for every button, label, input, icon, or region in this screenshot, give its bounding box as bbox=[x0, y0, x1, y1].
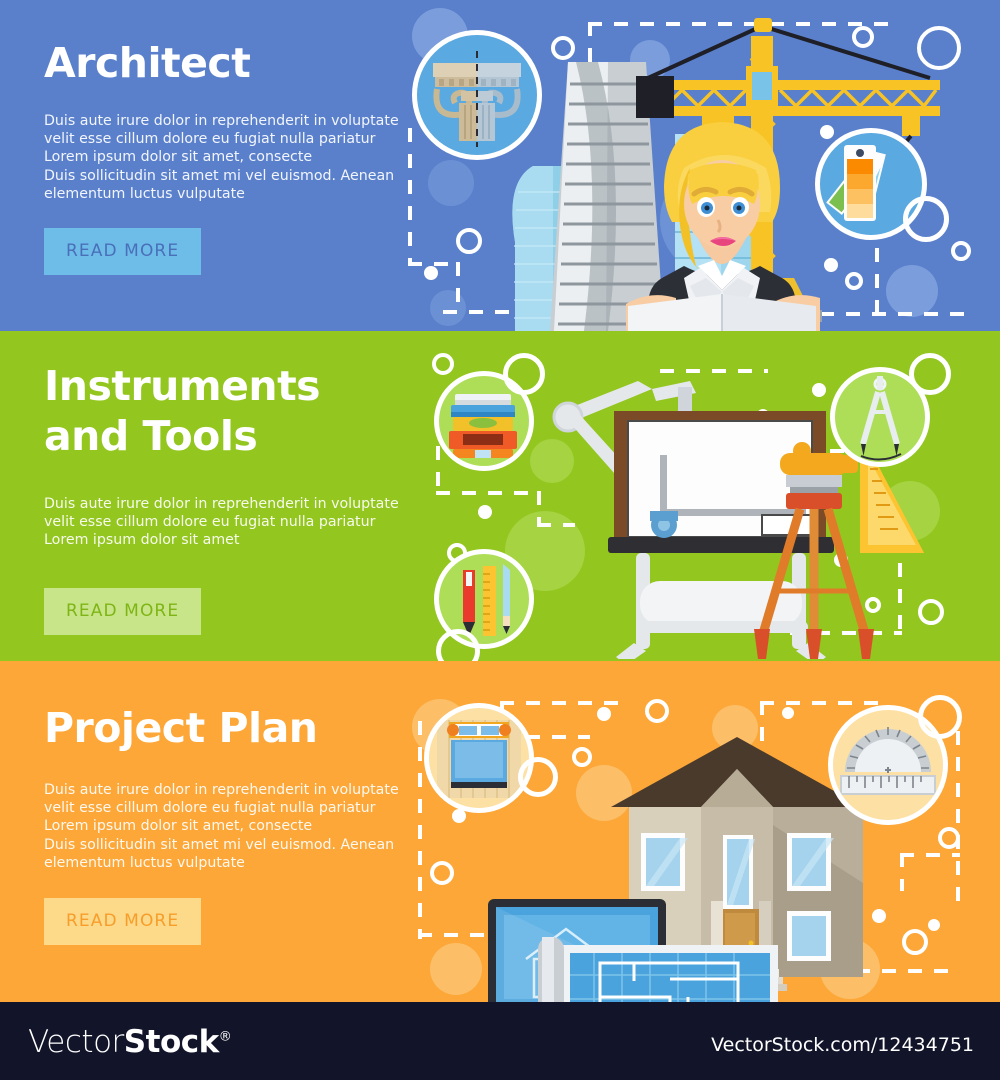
dashed-guide bbox=[456, 262, 460, 314]
decor-ring bbox=[551, 36, 575, 60]
decor-dot bbox=[928, 919, 940, 931]
banner-body: Duis aute irure dolor in reprehenderit i… bbox=[44, 495, 404, 550]
decor-blob bbox=[428, 160, 474, 206]
logo-word-stock: Stock bbox=[124, 1024, 219, 1060]
decor-bubble-outline bbox=[518, 757, 558, 797]
dashed-guide bbox=[900, 853, 904, 891]
decor-blob bbox=[430, 943, 482, 995]
decor-bubble-outline bbox=[903, 196, 949, 242]
logo-word-vector: Vector bbox=[28, 1024, 124, 1060]
banner-title: Architect bbox=[44, 38, 404, 88]
banner-title: Project Plan bbox=[44, 703, 404, 753]
banner-architect: Architect Duis aute irure dolor in repre… bbox=[0, 0, 1000, 331]
decor-ring bbox=[938, 827, 960, 849]
decor-ring bbox=[430, 861, 454, 885]
read-more-button[interactable]: READ MORE bbox=[44, 588, 201, 635]
dashed-guide bbox=[500, 701, 618, 705]
decor-ring bbox=[918, 599, 944, 625]
bedroom-glyph bbox=[429, 708, 529, 808]
banner-instruments-and-tools: Instruments and Tools Duis aute irure do… bbox=[0, 331, 1000, 661]
decor-ring bbox=[572, 747, 592, 767]
banner-body: Duis aute irure dolor in reprehenderit i… bbox=[44, 781, 404, 872]
dashed-guide bbox=[408, 128, 412, 264]
decor-dot bbox=[424, 266, 438, 280]
column-glyph bbox=[417, 35, 537, 155]
decor-bubble-outline bbox=[503, 353, 545, 395]
vectorstock-url: VectorStock.com/12434751 bbox=[711, 1034, 974, 1056]
decor-dot bbox=[478, 505, 492, 519]
bedroom-floorplan-icon bbox=[424, 703, 534, 813]
decor-ring bbox=[456, 228, 482, 254]
female-architect bbox=[618, 108, 828, 331]
dashed-guide bbox=[956, 731, 960, 911]
dashed-guide bbox=[408, 262, 460, 266]
banner-body: Duis aute irure dolor in reprehenderit i… bbox=[44, 112, 404, 203]
banner-set: Architect Duis aute irure dolor in repre… bbox=[0, 0, 1000, 1080]
banner-title: Instruments and Tools bbox=[44, 361, 404, 461]
vectorstock-footer: VectorStock® VectorStock.com/12434751 bbox=[0, 1002, 1000, 1080]
read-more-button[interactable]: READ MORE bbox=[44, 228, 201, 275]
vectorstock-logo: VectorStock® bbox=[28, 1024, 231, 1060]
decor-ring bbox=[645, 699, 669, 723]
instruments-copy: Instruments and Tools Duis aute irure do… bbox=[44, 361, 404, 635]
dashed-guide bbox=[436, 491, 540, 495]
registered-mark: ® bbox=[219, 1030, 232, 1045]
dashed-guide bbox=[418, 721, 422, 939]
dashed-guide bbox=[436, 446, 440, 494]
decor-bubble-outline bbox=[909, 353, 951, 395]
decor-bubble-outline bbox=[918, 695, 962, 739]
dashed-guide bbox=[760, 701, 880, 705]
banner-project-plan: Project Plan Duis aute irure dolor in re… bbox=[0, 661, 1000, 1002]
project-plan-copy: Project Plan Duis aute irure dolor in re… bbox=[44, 703, 404, 945]
decor-dot bbox=[597, 707, 611, 721]
ionic-column-icon bbox=[412, 30, 542, 160]
decor-ring bbox=[902, 929, 928, 955]
architect-copy: Architect Duis aute irure dolor in repre… bbox=[44, 38, 404, 275]
decor-ring bbox=[432, 353, 454, 375]
rolled-blueprint bbox=[538, 937, 788, 1002]
read-more-button[interactable]: READ MORE bbox=[44, 898, 201, 945]
decor-blob bbox=[430, 290, 466, 326]
decor-dot bbox=[782, 707, 794, 719]
dashed-guide bbox=[900, 853, 960, 857]
